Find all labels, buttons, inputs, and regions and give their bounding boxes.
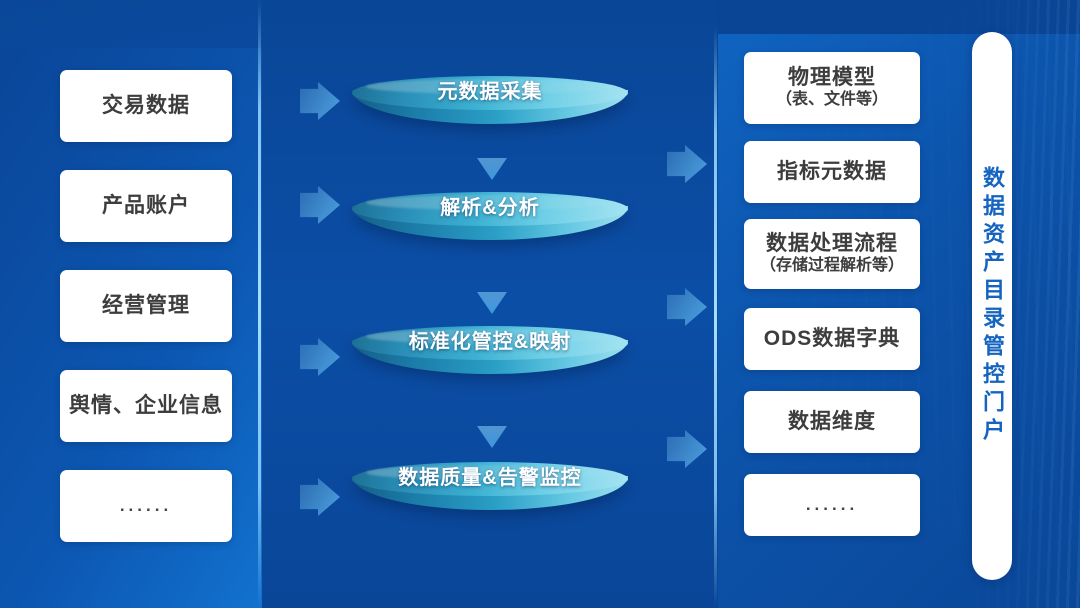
stage-label: 数据质量&告警监控 [352, 461, 628, 490]
source-card-public-opinion-enterprise-info[interactable]: 舆情、企业信息 [60, 370, 232, 442]
card-label: 物理模型 [788, 66, 876, 90]
stage-disc-parse-analyze[interactable]: 解析&分析 [352, 192, 628, 254]
asset-card-data-dimension[interactable]: 数据维度 [744, 391, 920, 453]
portal-label: 数据资产目录管控门户 [981, 166, 1003, 446]
card-label: 交易数据 [102, 94, 190, 118]
card-label: 数据处理流程 [766, 232, 898, 256]
diagram-canvas: 交易数据 产品账户 经营管理 舆情、企业信息 ...... 元数据采集 解析&分… [0, 0, 1080, 608]
stage-disc-standardization-mapping[interactable]: 标准化管控&映射 [352, 326, 628, 388]
card-label: 数据维度 [788, 410, 876, 434]
card-label: 指标元数据 [777, 160, 887, 184]
stage-disc-metadata-collection[interactable]: 元数据采集 [352, 76, 628, 138]
card-label: 经营管理 [102, 294, 190, 318]
asset-card-physical-model[interactable]: 物理模型 （表、文件等） [744, 52, 920, 124]
source-card-transaction-data[interactable]: 交易数据 [60, 70, 232, 142]
card-label: ODS数据字典 [764, 327, 901, 351]
divider-line-left [258, 0, 261, 608]
divider-line-right [714, 28, 717, 608]
card-sublabel: （表、文件等） [776, 90, 888, 110]
asset-card-more[interactable]: ...... [744, 474, 920, 536]
source-card-business-management[interactable]: 经营管理 [60, 270, 232, 342]
stage-label: 解析&分析 [352, 191, 628, 220]
card-label: ...... [120, 496, 172, 516]
source-card-product-account[interactable]: 产品账户 [60, 170, 232, 242]
stage-label: 标准化管控&映射 [352, 325, 628, 354]
source-card-more[interactable]: ...... [60, 470, 232, 542]
asset-card-indicator-metadata[interactable]: 指标元数据 [744, 141, 920, 203]
stage-label: 元数据采集 [352, 75, 628, 104]
asset-card-ods-data-dictionary[interactable]: ODS数据字典 [744, 308, 920, 370]
card-label: ...... [806, 495, 858, 515]
card-label: 产品账户 [102, 194, 190, 218]
stage-disc-data-quality-alert-monitoring[interactable]: 数据质量&告警监控 [352, 462, 628, 524]
asset-card-data-processing-flow[interactable]: 数据处理流程 （存储过程解析等） [744, 219, 920, 289]
card-sublabel: （存储过程解析等） [760, 256, 904, 276]
card-label: 舆情、企业信息 [69, 394, 223, 418]
portal-panel[interactable]: 数据资产目录管控门户 [972, 32, 1012, 580]
